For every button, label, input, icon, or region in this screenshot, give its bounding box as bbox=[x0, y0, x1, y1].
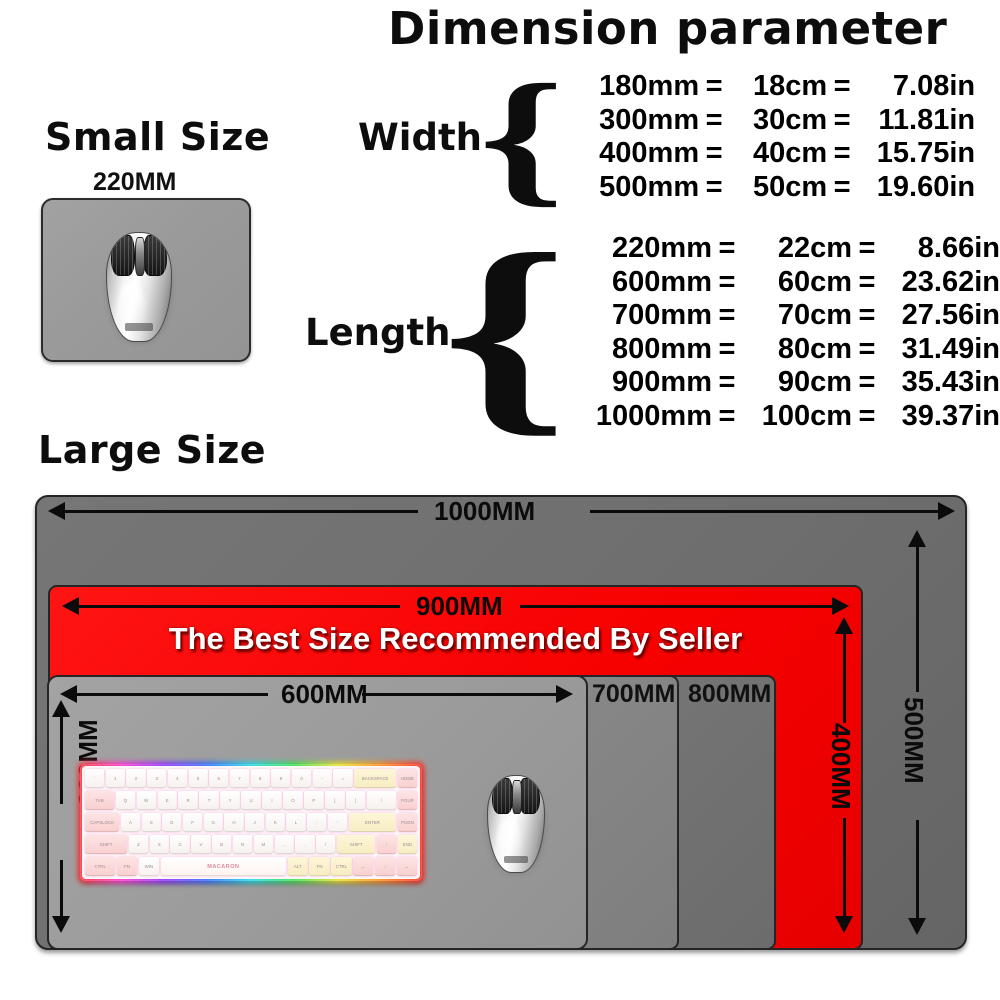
key: 0 bbox=[292, 769, 311, 788]
spec-row: 800mm = 80cm = 31.49in bbox=[562, 333, 1000, 367]
spec-row: 220mm = 22cm = 8.66in bbox=[562, 232, 1000, 266]
key: F bbox=[183, 813, 202, 832]
label-700mm: 700MM bbox=[592, 680, 675, 709]
keyboard-row: ` 1 2 3 4 5 6 7 8 9 0 - = BACKSPACE HOME bbox=[85, 769, 417, 788]
value-mm: 700mm bbox=[562, 299, 712, 333]
value-in: 39.37in bbox=[882, 400, 1000, 434]
key: . bbox=[295, 835, 314, 854]
key: X bbox=[150, 835, 169, 854]
key: G bbox=[204, 813, 223, 832]
key-arrow-left: ← bbox=[353, 857, 373, 876]
spec-row: 400mm = 40cm = 15.75in bbox=[565, 137, 975, 171]
value-cm: 22cm bbox=[742, 232, 852, 266]
equals: = bbox=[852, 266, 882, 300]
key-backspace: BACKSPACE bbox=[354, 769, 396, 788]
equals: = bbox=[852, 366, 882, 400]
key: ] bbox=[346, 791, 365, 810]
key: H bbox=[224, 813, 243, 832]
key: R bbox=[178, 791, 197, 810]
width-spec-group: Width { 180mm = 18cm = 7.08in 300mm = 30… bbox=[358, 70, 975, 204]
spec-row: 180mm = 18cm = 7.08in bbox=[565, 70, 975, 104]
value-cm: 60cm bbox=[742, 266, 852, 300]
value-in: 8.66in bbox=[882, 232, 1000, 266]
arrow-line bbox=[520, 605, 835, 608]
equals: = bbox=[712, 366, 742, 400]
equals: = bbox=[852, 333, 882, 367]
equals: = bbox=[852, 299, 882, 333]
key-arrow-down: ↓ bbox=[375, 857, 395, 876]
key: T bbox=[199, 791, 218, 810]
key: W bbox=[137, 791, 156, 810]
arrow-head-up bbox=[52, 700, 70, 717]
mouse-button-texture bbox=[144, 236, 166, 275]
label-900mm: 900MM bbox=[407, 591, 512, 622]
arrow-line bbox=[916, 546, 919, 692]
arrow-head-up bbox=[908, 530, 926, 547]
key-enter: ENTER bbox=[349, 813, 397, 832]
value-cm: 80cm bbox=[742, 333, 852, 367]
mouse-right-button bbox=[519, 778, 540, 815]
arrow-line bbox=[362, 693, 558, 696]
key: D bbox=[162, 813, 181, 832]
key: [ bbox=[325, 791, 344, 810]
keyboard-keys-area: ` 1 2 3 4 5 6 7 8 9 0 - = BACKSPACE HOME… bbox=[82, 766, 420, 879]
key-shift-right: SHIFT bbox=[337, 835, 375, 854]
equals: = bbox=[712, 333, 742, 367]
key-tab: TAB bbox=[85, 791, 114, 810]
key: 8 bbox=[251, 769, 270, 788]
value-cm: 50cm bbox=[729, 171, 827, 205]
key-fn-right: FN bbox=[309, 857, 329, 876]
label-800mm: 800MM bbox=[688, 680, 771, 709]
key: 9 bbox=[271, 769, 290, 788]
key: - bbox=[313, 769, 332, 788]
key-fn-left: FN bbox=[117, 857, 137, 876]
key-arrow-right: → bbox=[397, 857, 417, 876]
label-600mm: 600MM bbox=[272, 679, 377, 710]
arrow-head-right bbox=[938, 502, 955, 520]
arrow-line bbox=[60, 860, 63, 918]
arrow-head-up bbox=[835, 617, 853, 634]
value-in: 27.56in bbox=[882, 299, 1000, 333]
equals: = bbox=[827, 70, 857, 104]
key: 2 bbox=[126, 769, 145, 788]
mouse-logo bbox=[125, 323, 153, 332]
equals: = bbox=[827, 171, 857, 205]
arrow-head-left bbox=[62, 597, 79, 615]
key: A bbox=[121, 813, 140, 832]
value-mm: 800mm bbox=[562, 333, 712, 367]
equals: = bbox=[712, 299, 742, 333]
key-win: WIN bbox=[139, 857, 159, 876]
key: 6 bbox=[209, 769, 228, 788]
key: E bbox=[158, 791, 177, 810]
key-arrow-up: ↑ bbox=[377, 835, 396, 854]
key: Q bbox=[116, 791, 135, 810]
value-mm: 180mm bbox=[565, 70, 699, 104]
key: ; bbox=[307, 813, 326, 832]
key: Y bbox=[220, 791, 239, 810]
arrow-head-down bbox=[908, 918, 926, 935]
label-400mm: 400MM bbox=[825, 723, 856, 810]
arrow-line bbox=[843, 633, 846, 723]
value-in: 23.62in bbox=[882, 266, 1000, 300]
small-size-heading: Small Size bbox=[45, 115, 270, 159]
key-shift-left: SHIFT bbox=[85, 835, 127, 854]
label-1000mm: 1000MM bbox=[425, 496, 544, 527]
value-cm: 90cm bbox=[742, 366, 852, 400]
spec-row: 500mm = 50cm = 19.60in bbox=[565, 171, 975, 205]
arrow-head-left bbox=[48, 502, 65, 520]
key-end: END bbox=[398, 835, 417, 854]
equals: = bbox=[712, 266, 742, 300]
arrow-line bbox=[76, 693, 268, 696]
key: J bbox=[245, 813, 264, 832]
key: 1 bbox=[106, 769, 125, 788]
arrow-head-right bbox=[556, 685, 573, 703]
equals: = bbox=[699, 137, 729, 171]
key-alt: ALT bbox=[288, 857, 308, 876]
key: N bbox=[233, 835, 252, 854]
equals: = bbox=[699, 104, 729, 138]
key: S bbox=[142, 813, 161, 832]
equals: = bbox=[827, 137, 857, 171]
value-in: 19.60in bbox=[857, 171, 975, 205]
equals: = bbox=[827, 104, 857, 138]
keyboard-row: CAPSLOCK A S D F G H J K L ; ' ENTER PGD… bbox=[85, 813, 417, 832]
spec-row: 700mm = 70cm = 27.56in bbox=[562, 299, 1000, 333]
key-pageup: PGUP bbox=[398, 791, 417, 810]
keyboard-row: CTRL FN WIN MACARON ALT FN CTRL ← ↓ → bbox=[85, 857, 417, 876]
key: 4 bbox=[168, 769, 187, 788]
spec-row: 300mm = 30cm = 11.81in bbox=[565, 104, 975, 138]
equals: = bbox=[712, 400, 742, 434]
key: M bbox=[254, 835, 273, 854]
mouse-button-texture bbox=[520, 779, 539, 814]
key: C bbox=[170, 835, 189, 854]
equals: = bbox=[852, 400, 882, 434]
mouse-left-button bbox=[111, 235, 135, 276]
key: I bbox=[262, 791, 281, 810]
key: ` bbox=[85, 769, 104, 788]
value-mm: 300mm bbox=[565, 104, 699, 138]
width-label: Width bbox=[358, 116, 482, 159]
value-in: 11.81in bbox=[857, 104, 975, 138]
equals: = bbox=[699, 171, 729, 205]
length-rows: 220mm = 22cm = 8.66in 600mm = 60cm = 23.… bbox=[562, 232, 1000, 433]
mouse-button-texture bbox=[112, 236, 134, 275]
keyboard-row: TAB Q W E R T Y U I O P [ ] \ PGUP bbox=[85, 791, 417, 810]
value-mm: 500mm bbox=[565, 171, 699, 205]
key: / bbox=[316, 835, 335, 854]
mouse-logo bbox=[504, 856, 529, 864]
small-pad-width-label: 220MM bbox=[93, 168, 176, 197]
arrow-head-down bbox=[52, 916, 70, 933]
equals: = bbox=[852, 232, 882, 266]
value-mm: 900mm bbox=[562, 366, 712, 400]
value-cm: 70cm bbox=[742, 299, 852, 333]
value-mm: 220mm bbox=[562, 232, 712, 266]
mouse-button-texture bbox=[493, 779, 512, 814]
mouse-right-button bbox=[143, 235, 167, 276]
mouse-scroll-wheel bbox=[135, 237, 145, 276]
arrow-line bbox=[60, 716, 63, 804]
key: 7 bbox=[230, 769, 249, 788]
equals: = bbox=[712, 232, 742, 266]
mouse-body bbox=[106, 232, 172, 342]
mouse-illustration-small bbox=[106, 232, 170, 340]
key: U bbox=[241, 791, 260, 810]
key: 3 bbox=[147, 769, 166, 788]
mouse-left-button bbox=[492, 778, 513, 815]
seller-recommendation-banner: The Best Size Recommended By Seller bbox=[48, 621, 863, 657]
key: 5 bbox=[189, 769, 208, 788]
arrow-line bbox=[590, 510, 945, 513]
width-brace-icon: { bbox=[479, 79, 565, 196]
mouse-scroll-wheel bbox=[512, 780, 521, 815]
page-title: Dimension parameter bbox=[388, 2, 947, 55]
arrow-line bbox=[78, 605, 400, 608]
large-size-heading: Large Size bbox=[38, 428, 266, 472]
value-mm: 400mm bbox=[565, 137, 699, 171]
arrow-head-right bbox=[832, 597, 849, 615]
length-label: Length bbox=[305, 311, 451, 354]
key: , bbox=[275, 835, 294, 854]
key-ctrl-right: CTRL bbox=[331, 857, 351, 876]
value-mm: 1000mm bbox=[562, 400, 712, 434]
arrow-head-down bbox=[835, 916, 853, 933]
spec-row: 900mm = 90cm = 35.43in bbox=[562, 366, 1000, 400]
mouse-body bbox=[487, 775, 545, 873]
length-spec-group: Length { 220mm = 22cm = 8.66in 600mm = 6… bbox=[305, 232, 1000, 433]
spec-row: 600mm = 60cm = 23.62in bbox=[562, 266, 1000, 300]
key: O bbox=[283, 791, 302, 810]
width-rows: 180mm = 18cm = 7.08in 300mm = 30cm = 11.… bbox=[565, 70, 975, 204]
key: K bbox=[266, 813, 285, 832]
value-in: 31.49in bbox=[882, 333, 1000, 367]
value-in: 15.75in bbox=[857, 137, 975, 171]
arrow-line bbox=[64, 510, 418, 513]
label-500mm: 500MM bbox=[898, 697, 929, 784]
key: B bbox=[212, 835, 231, 854]
value-in: 7.08in bbox=[857, 70, 975, 104]
arrow-line bbox=[916, 820, 919, 920]
length-brace-icon: { bbox=[441, 246, 568, 419]
key: L bbox=[286, 813, 305, 832]
value-in: 35.43in bbox=[882, 366, 1000, 400]
value-mm: 600mm bbox=[562, 266, 712, 300]
value-cm: 18cm bbox=[729, 70, 827, 104]
arrow-line bbox=[843, 818, 846, 918]
key-spacebar: MACARON bbox=[161, 857, 286, 876]
keyboard-illustration: ` 1 2 3 4 5 6 7 8 9 0 - = BACKSPACE HOME… bbox=[80, 764, 422, 881]
mouse-illustration-large bbox=[487, 775, 543, 871]
keyboard-row: SHIFT Z X C V B N M , . / SHIFT ↑ END bbox=[85, 835, 417, 854]
spec-row: 1000mm = 100cm = 39.37in bbox=[562, 400, 1000, 434]
key-backslash: \ bbox=[367, 791, 396, 810]
key: V bbox=[191, 835, 210, 854]
equals: = bbox=[699, 70, 729, 104]
key: = bbox=[333, 769, 352, 788]
key: Z bbox=[129, 835, 148, 854]
value-cm: 30cm bbox=[729, 104, 827, 138]
key: ' bbox=[328, 813, 347, 832]
key-capslock: CAPSLOCK bbox=[85, 813, 119, 832]
key-home: HOME bbox=[398, 769, 417, 788]
value-cm: 40cm bbox=[729, 137, 827, 171]
key-pagedown: PGDN bbox=[398, 813, 417, 832]
value-cm: 100cm bbox=[742, 400, 852, 434]
key-ctrl-left: CTRL bbox=[85, 857, 115, 876]
key: P bbox=[304, 791, 323, 810]
